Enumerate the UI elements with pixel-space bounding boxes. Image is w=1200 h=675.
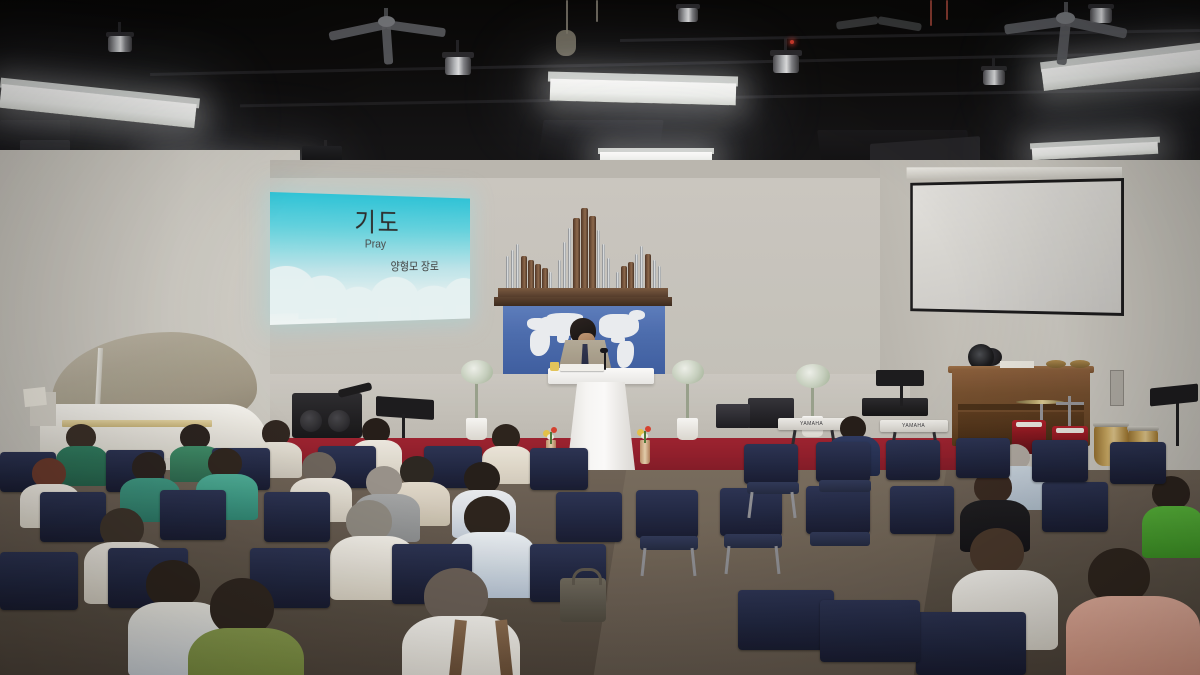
person-head xyxy=(970,528,1024,576)
keyboard-brand-label: YAMAHA xyxy=(902,423,925,429)
map-landmass-south-america xyxy=(617,341,634,368)
organ-pipe xyxy=(581,208,588,300)
flower-stem xyxy=(644,431,646,443)
person-head xyxy=(146,560,200,608)
hanging-cable xyxy=(596,0,598,22)
projection-screen[interactable] xyxy=(910,178,1124,316)
flower-vase-right xyxy=(640,440,650,464)
person-torso xyxy=(1142,506,1200,558)
podium-microphone-head xyxy=(600,348,608,353)
cable-bundle xyxy=(556,30,576,56)
amp-speaker-cone xyxy=(300,410,322,432)
topiary-left xyxy=(461,360,493,384)
projected-prayer-slide: 기도 Pray 양형모 장로 xyxy=(270,192,470,325)
hanging-cable xyxy=(930,0,932,26)
screen-roller-case xyxy=(907,167,1122,179)
person-torso xyxy=(188,628,304,675)
podium-microphone xyxy=(604,352,606,370)
planter-pot-right xyxy=(677,418,698,440)
planter-pot-left xyxy=(466,418,487,440)
open-bible xyxy=(560,364,604,371)
coffee-mug xyxy=(550,362,559,371)
keyboard-brand-label: YAMAHA xyxy=(800,421,823,427)
organ-case-base xyxy=(494,297,672,306)
indicator-led xyxy=(790,40,794,44)
topiary-right xyxy=(672,360,704,384)
hanging-cable xyxy=(946,0,948,20)
topiary-far-right xyxy=(796,364,830,388)
music-stand-pole xyxy=(1176,400,1179,446)
topiary-stem xyxy=(475,378,478,420)
slide-presenter-name: 양형모 장로 xyxy=(391,258,439,274)
wall-panel xyxy=(1110,370,1124,406)
map-landmass-greenland xyxy=(629,310,645,320)
slide-subtitle-english: Pray xyxy=(365,237,386,250)
music-stand-desk xyxy=(376,396,434,420)
handbag-handle xyxy=(572,568,602,585)
floor-tom-head xyxy=(1056,428,1084,433)
tom-drum-head xyxy=(1016,422,1042,427)
keyboard-upper-tier xyxy=(862,398,928,416)
map-landmass-africa xyxy=(530,330,550,356)
stage-monitor-speaker xyxy=(716,404,750,428)
tambourine xyxy=(1046,360,1066,368)
pipe-organ xyxy=(498,196,668,300)
topiary-stem xyxy=(686,378,689,420)
person-torso xyxy=(1066,596,1200,675)
conga-rim xyxy=(1127,426,1159,431)
music-stand-pole xyxy=(402,414,405,438)
sheet-music xyxy=(23,387,47,407)
flower-stem xyxy=(550,432,552,444)
church-sanctuary-photo: 기도 Pray 양형모 장로 xyxy=(0,0,1200,675)
sheet-music xyxy=(1000,361,1034,368)
amp-speaker-cone xyxy=(328,410,350,432)
drum-rack-arm xyxy=(1056,402,1084,405)
tambourine xyxy=(1070,360,1090,368)
music-stand-desk xyxy=(876,370,924,386)
conga-rim xyxy=(1093,422,1129,427)
slide-title-korean: 기도 xyxy=(354,208,400,237)
cloud-shape xyxy=(443,278,470,321)
hanging-cable xyxy=(566,0,568,34)
